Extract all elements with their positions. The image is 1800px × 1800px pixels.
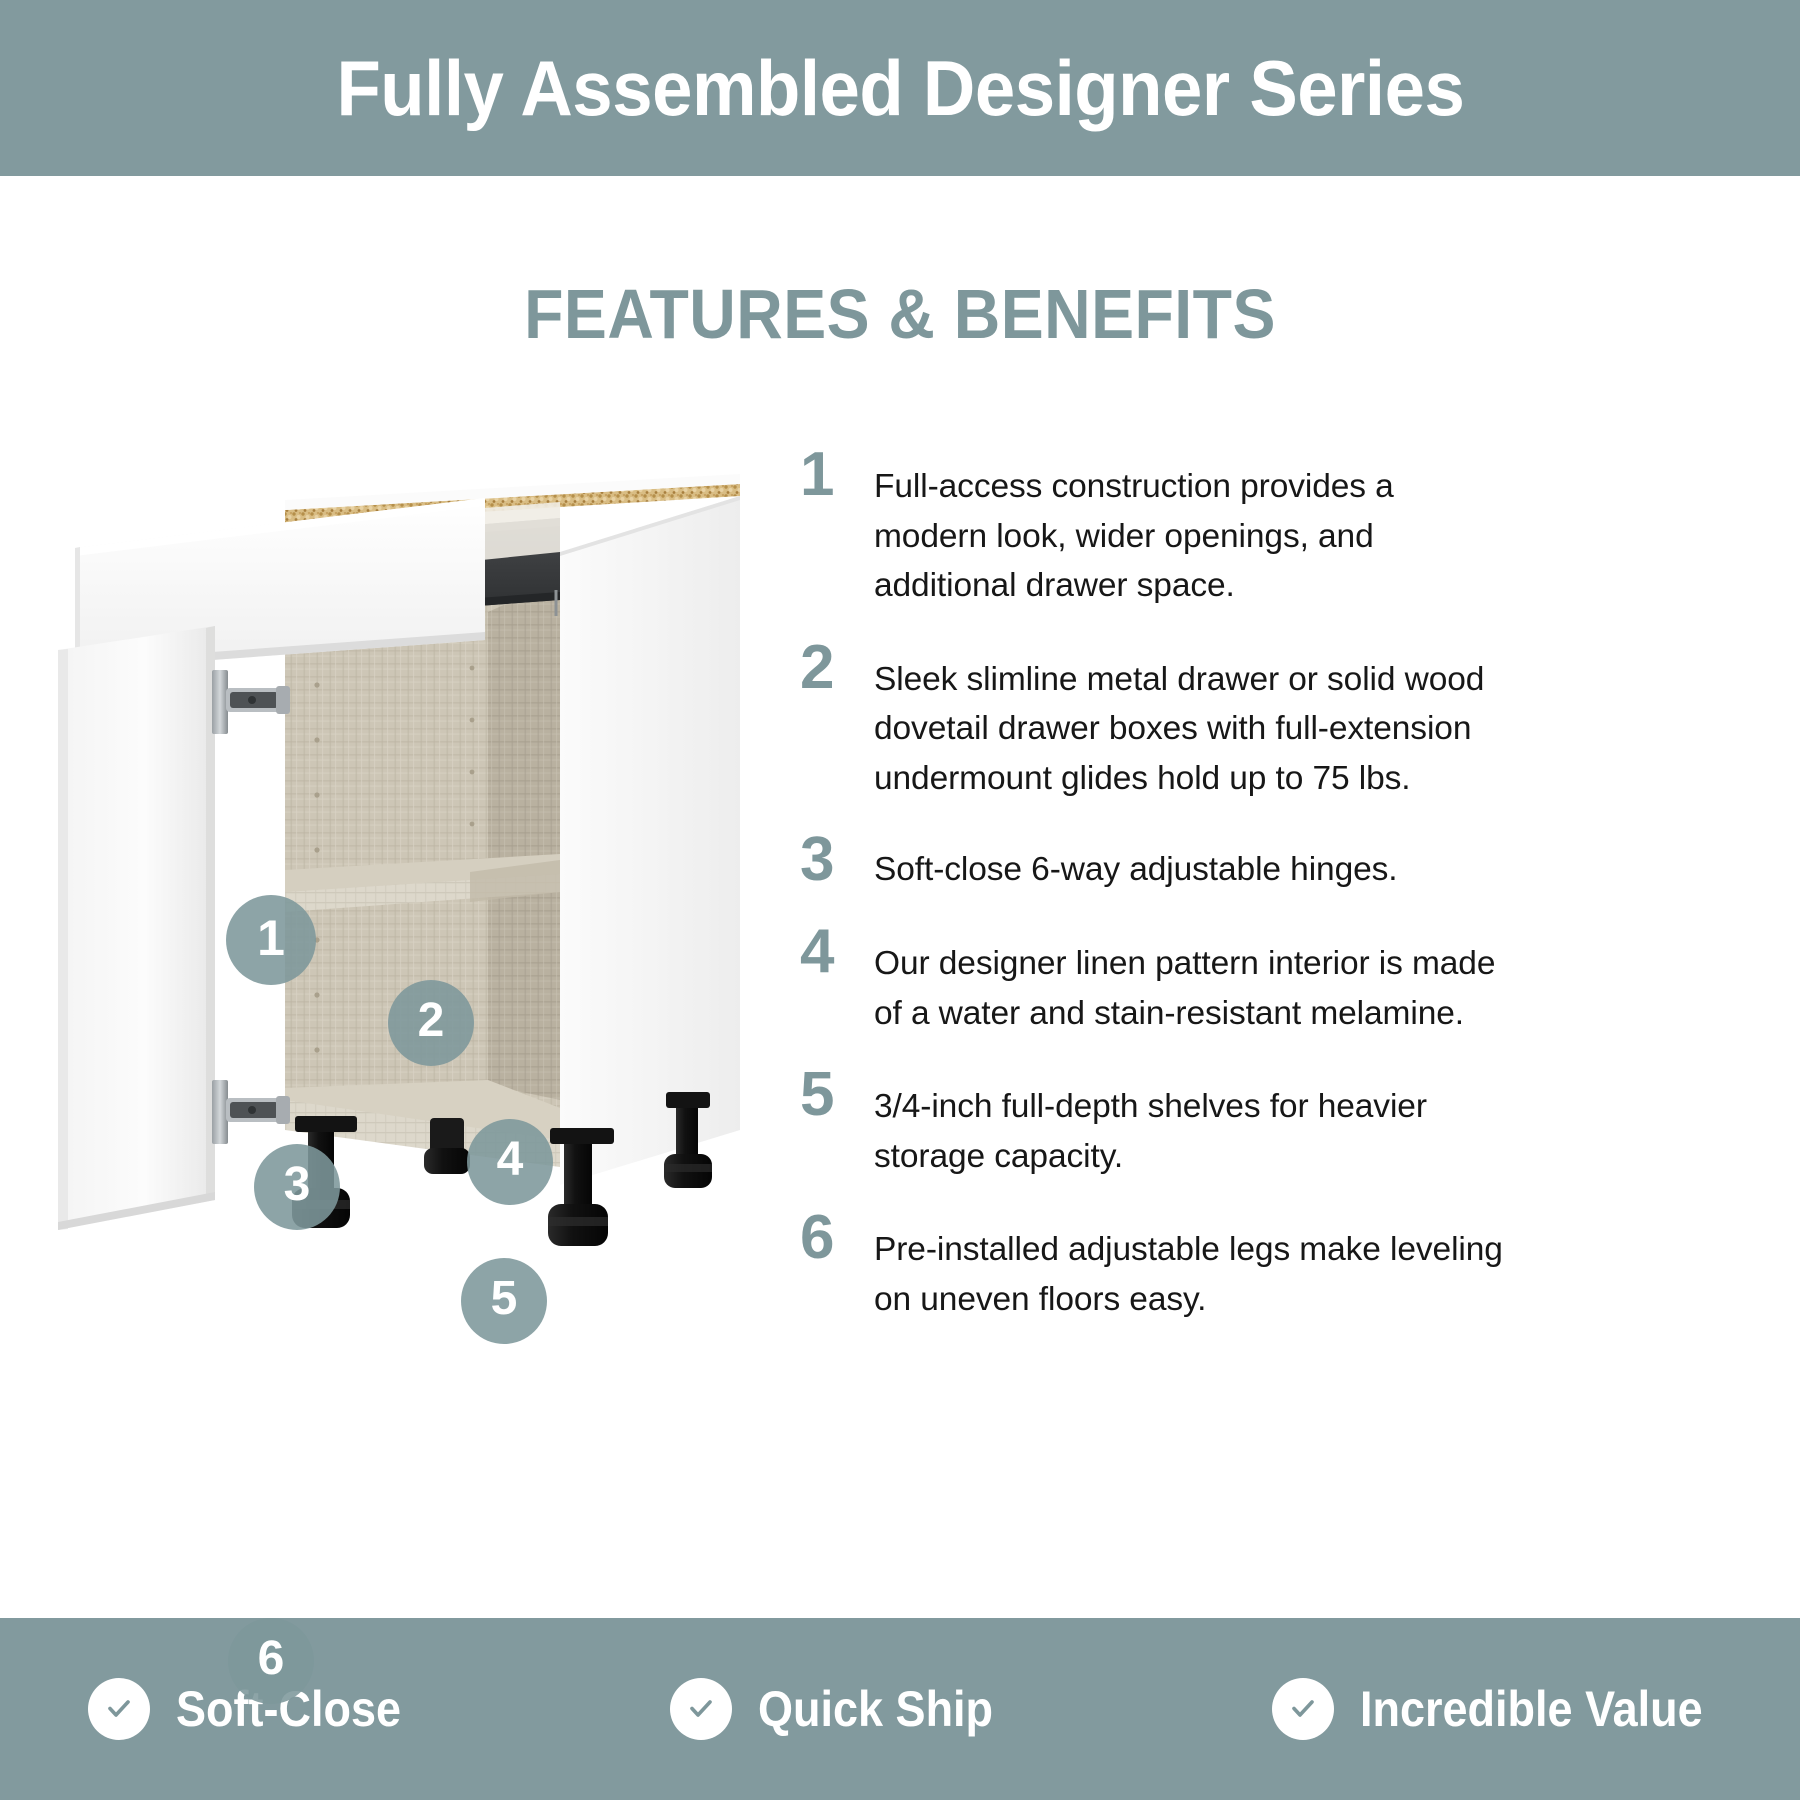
check-circle-icon [670,1678,732,1740]
check-circle-icon [1272,1678,1334,1740]
feature-description: 3/4-inch full-depth shelves for heavier … [874,1064,1514,1181]
footer-label: Incredible Value [1360,1684,1703,1734]
feature-description: Full-access construction provides a mode… [874,444,1514,611]
feature-description: Pre-installed adjustable legs make level… [874,1207,1514,1324]
cabinet-drawing [40,440,820,1470]
header-bar: Fully Assembled Designer Series [0,0,1800,176]
callout-badge-2: 2 [388,980,474,1066]
feature-item-4: 4 Our designer linen pattern interior is… [800,921,1750,1038]
main-content: 1 2 3 4 5 6 1 Full-access construction p… [0,420,1800,1590]
features-list: 1 Full-access construction provides a mo… [800,444,1750,1351]
feature-number: 1 [800,444,874,503]
footer-item-incredible-value: Incredible Value [1200,1678,1800,1740]
callout-badge-1: 1 [226,895,316,985]
feature-description: Soft-close 6-way adjustable hinges. [874,829,1514,895]
cabinet-side-panel [560,496,740,1185]
soft-close-hinge-upper [212,670,290,734]
footer-item-quick-ship: Quick Ship [600,1678,1200,1740]
feature-number: 5 [800,1064,874,1123]
feature-item-5: 5 3/4-inch full-depth shelves for heavie… [800,1064,1750,1181]
feature-item-6: 6 Pre-installed adjustable legs make lev… [800,1207,1750,1324]
cabinet-door [58,626,215,1230]
adjustable-leg-rear [424,1118,470,1174]
feature-number: 3 [800,829,874,888]
product-illustration: 1 2 3 4 5 6 [40,440,820,1470]
callout-badge-3: 3 [254,1144,340,1230]
feature-item-3: 3 Soft-close 6-way adjustable hinges. [800,829,1750,895]
check-circle-icon [88,1678,150,1740]
callout-badge-5: 5 [461,1258,547,1344]
feature-number: 6 [800,1207,874,1266]
feature-number: 4 [800,921,874,980]
soft-close-hinge-lower [212,1080,290,1144]
feature-item-1: 1 Full-access construction provides a mo… [800,444,1750,611]
callout-badge-4: 4 [467,1119,553,1205]
callout-badge-6: 6 [228,1618,314,1704]
linen-right-wall [488,580,560,1100]
feature-description: Our designer linen pattern interior is m… [874,921,1514,1038]
feature-number: 2 [800,637,874,696]
page-title: Fully Assembled Designer Series [336,49,1464,127]
footer-label: Quick Ship [758,1684,993,1734]
feature-description: Sleek slimline metal drawer or solid woo… [874,637,1514,804]
feature-item-2: 2 Sleek slimline metal drawer or solid w… [800,637,1750,804]
section-heading: FEATURES & BENEFITS [72,278,1728,352]
